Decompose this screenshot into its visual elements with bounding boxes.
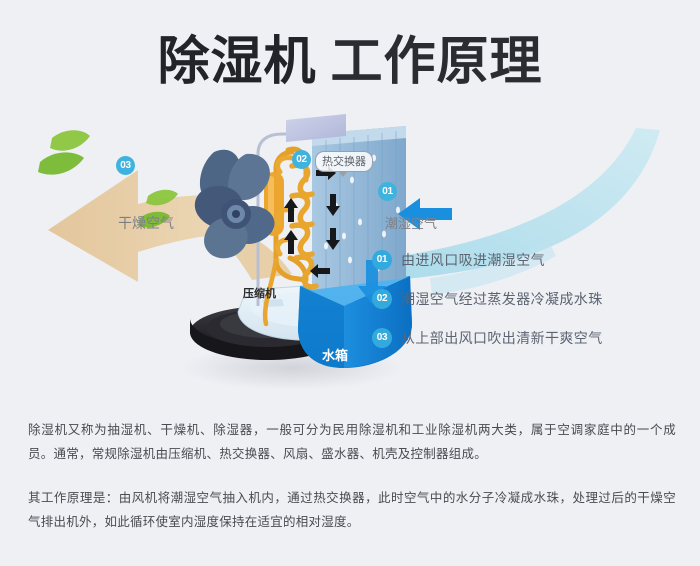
label-dry-air: 干燥空气 [118, 213, 174, 233]
label-compressor: 压缩机 [243, 285, 276, 301]
title-main-text: 除湿机 [157, 30, 316, 94]
infographic-page: 除湿机工作原理 [0, 0, 700, 566]
label-humid-air: 潮湿空气 [385, 213, 437, 232]
legend-text-03: 从上部出风口吹出清新干爽空气 [401, 328, 603, 348]
diagram-badge-01: 01 [378, 182, 397, 201]
legend-badge-03: 03 [372, 328, 392, 348]
legend-badge-02: 02 [372, 289, 392, 309]
legend-item-01: 01 由进风口吸进潮湿空气 [372, 250, 692, 270]
fan-graphic [195, 150, 275, 259]
title-sub-text: 工作原理 [331, 30, 543, 94]
legend-text-01: 由进风口吸进潮湿空气 [401, 250, 545, 270]
page-title: 除湿机工作原理 [0, 30, 700, 94]
legend-text-02: 潮湿空气经过蒸发器冷凝成水珠 [401, 289, 603, 309]
legend-item-02: 02 潮湿空气经过蒸发器冷凝成水珠 [372, 289, 692, 309]
body-copy: 除湿机又称为抽湿机、干燥机、除湿器，一般可分为民用除湿机和工业除湿机两大类，属于… [28, 418, 676, 534]
diagram-badge-03: 03 [116, 156, 135, 175]
paragraph-2: 其工作原理是：由风机将潮湿空气抽入机内，通过热交换器，此时空气中的水分子冷凝成水… [28, 486, 676, 534]
label-heat-exchanger: 热交换器 [315, 151, 373, 172]
paragraph-1: 除湿机又称为抽湿机、干燥机、除湿器，一般可分为民用除湿机和工业除湿机两大类，属于… [28, 418, 676, 466]
diagram-badge-02: 02 [292, 150, 311, 169]
legend-badge-01: 01 [372, 250, 392, 270]
label-water-tank: 水箱 [322, 345, 348, 364]
legend-list: 01 由进风口吸进潮湿空气 02 潮湿空气经过蒸发器冷凝成水珠 03 从上部出风… [372, 250, 692, 367]
legend-item-03: 03 从上部出风口吹出清新干爽空气 [372, 328, 692, 348]
